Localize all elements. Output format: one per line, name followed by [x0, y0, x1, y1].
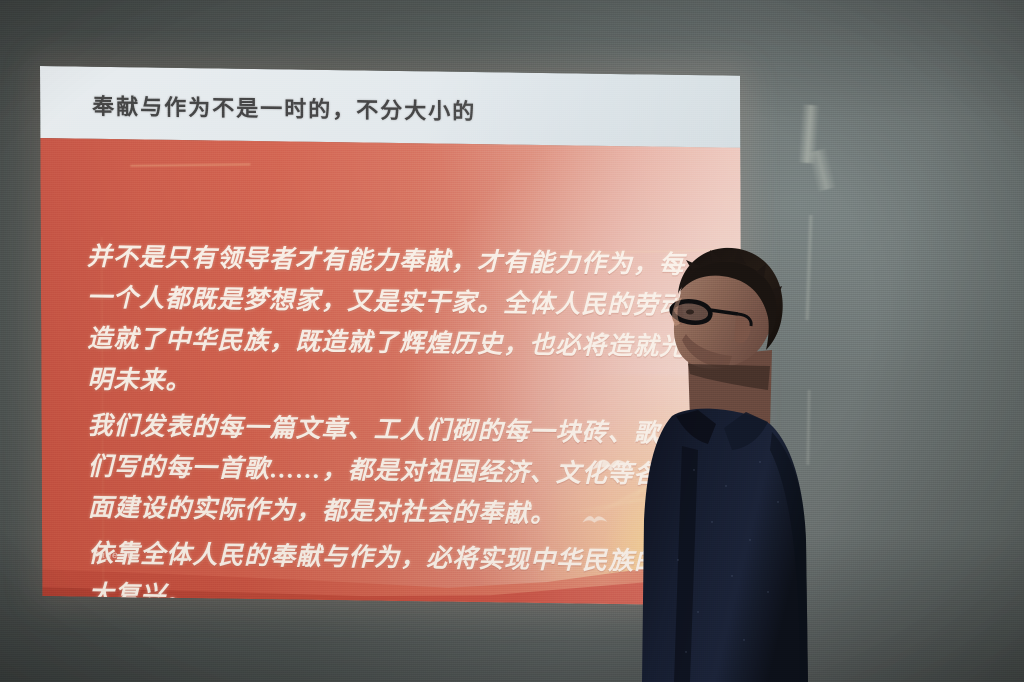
slide-paragraph: 依靠全体人民的奉献与作为，必将实现中华民族的伟大复兴。 [88, 534, 708, 606]
photo-scene: 奉献与作为不是一时的，不分大小的 [0, 0, 1024, 682]
eye [686, 310, 694, 315]
person-figure [620, 240, 880, 682]
slide-text-block: 并不是只有领导者才有能力奉献，才有能力作为，每一个人都既是梦想家，又是实干家。全… [87, 237, 709, 606]
slide-title: 奉献与作为不是一时的，不分大小的 [92, 89, 476, 126]
slide-paragraph: 我们发表的每一篇文章、工人们砌的每一块砖、歌手们写的每一首歌……，都是对祖国经济… [87, 406, 708, 538]
slide-paragraph: 并不是只有领导者才有能力奉献，才有能力作为，每一个人都既是梦想家，又是实干家。全… [87, 237, 708, 410]
slide-page-number: Page 16 [92, 550, 133, 562]
